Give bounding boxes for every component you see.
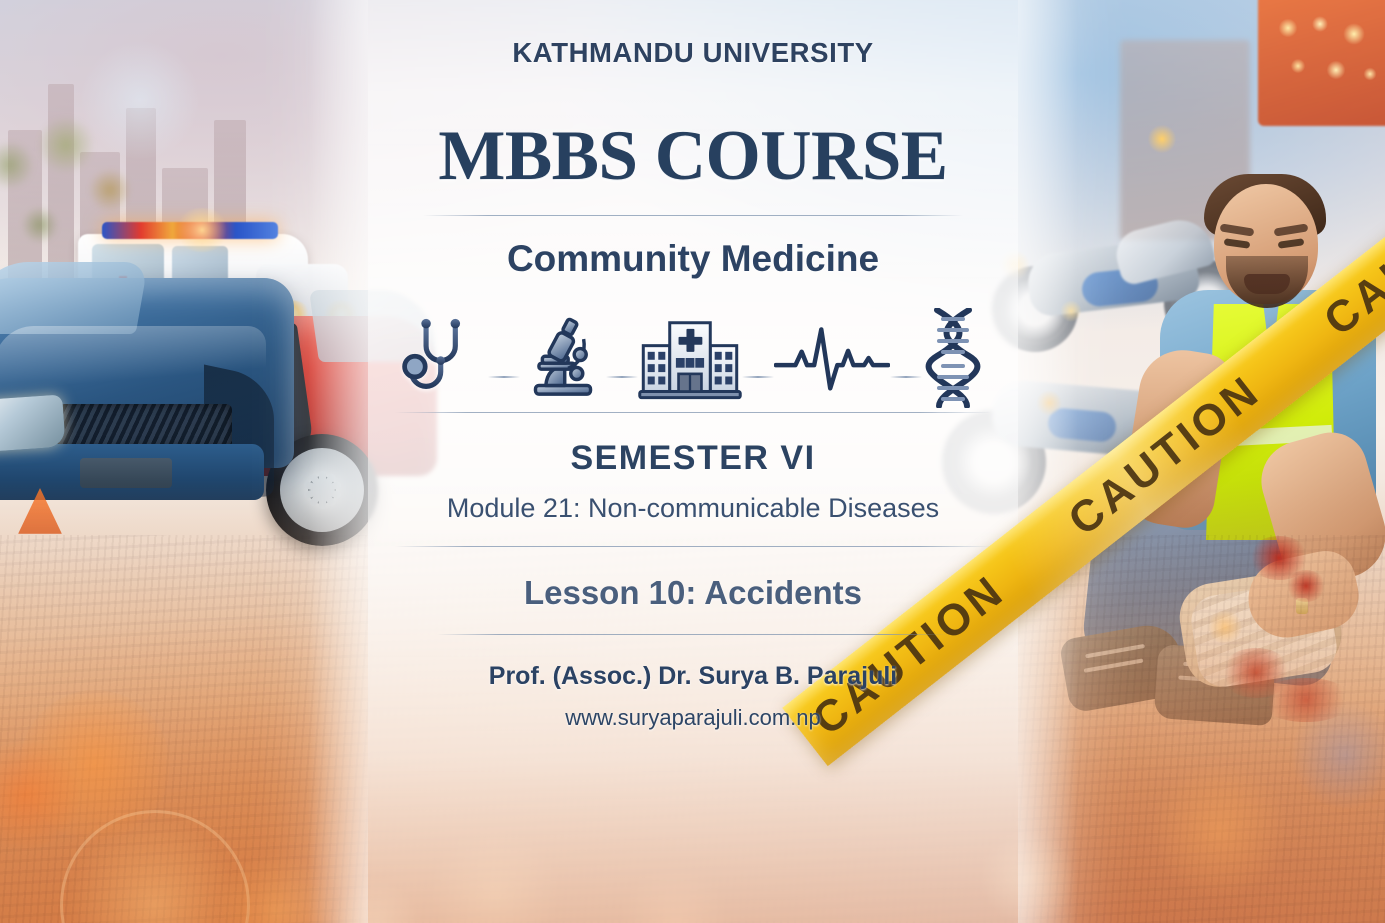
presenter-website: www.suryaparajuli.com.np <box>565 705 821 731</box>
university-name: KATHMANDU UNIVERSITY <box>512 37 873 69</box>
semester-label: SEMESTER VI <box>570 439 815 478</box>
icon-connector <box>890 376 922 378</box>
dna-helix-icon <box>922 308 984 408</box>
microscope-icon <box>520 308 606 408</box>
module-label: Module 21: Non-communicable Diseases <box>447 493 939 524</box>
ecg-heartbeat-icon <box>774 308 890 408</box>
divider-above-lesson <box>395 546 991 547</box>
slide-content: KATHMANDU UNIVERSITY MBBS COURSE Communi… <box>368 0 1018 923</box>
divider-above-author <box>437 634 949 635</box>
lesson-title: Lesson 10: Accidents <box>524 574 862 612</box>
building-windows-right <box>1274 12 1385 98</box>
icon-connector <box>488 376 520 378</box>
divider-under-title <box>423 215 963 216</box>
page-title: MBBS COURSE <box>438 121 947 192</box>
presentation-slide: CAUTION CAUTION CAUTION KATHMANDU UNIVER… <box>0 0 1385 923</box>
street-lamp-right <box>1148 124 1176 154</box>
medical-icon-strip <box>393 304 993 412</box>
divider-above-semester <box>395 412 991 413</box>
hospital-icon <box>638 308 742 408</box>
icon-connector <box>606 376 638 378</box>
stethoscope-icon <box>402 308 488 408</box>
icon-connector <box>742 376 774 378</box>
subject-title: Community Medicine <box>507 238 879 280</box>
presenter-name: Prof. (Assoc.) Dr. Surya B. Parajuli <box>489 662 897 691</box>
